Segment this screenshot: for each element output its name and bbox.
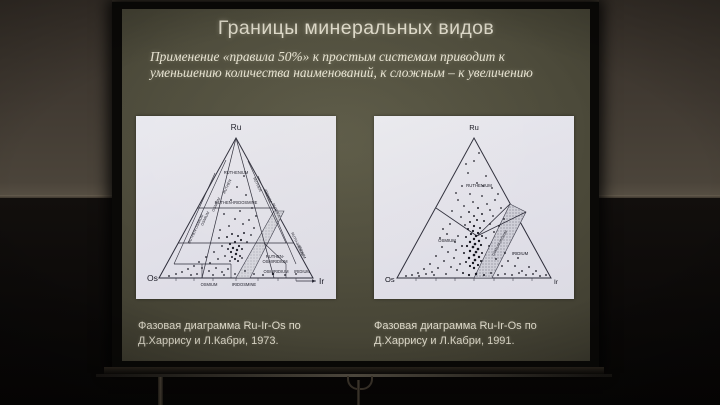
svg-text:OSMIUM: OSMIUM bbox=[438, 238, 456, 243]
screen-stand-leg-right bbox=[357, 380, 360, 405]
svg-text:Os: Os bbox=[147, 273, 158, 283]
svg-text:Ir: Ir bbox=[319, 276, 324, 286]
svg-text:RUTHEN: RUTHEN bbox=[222, 179, 232, 195]
figure-row: RUTHENIUM RUTHEN-IRIDOSMINE OSMIUM IRIDO… bbox=[136, 116, 576, 306]
ternary-diagram-1973: RUTHENIUM RUTHEN-IRIDOSMINE OSMIUM IRIDO… bbox=[136, 116, 336, 299]
svg-text:OSMIRIDIUM: OSMIRIDIUM bbox=[262, 259, 288, 264]
svg-text:IRIDIUM: IRIDIUM bbox=[294, 269, 310, 274]
screen-stand-leg-left bbox=[158, 377, 163, 405]
presentation-slide: Границы минеральных видов Применение «пр… bbox=[122, 9, 590, 361]
svg-text:RUTHEN-IRIDOSMINE: RUTHEN-IRIDOSMINE bbox=[215, 200, 258, 205]
svg-text:IRIDIUM: IRIDIUM bbox=[512, 251, 529, 256]
ternary-diagram-1991: RUTHENIUM OSMIUM IRIDIUM OSMIUM-IRIDIUM … bbox=[374, 116, 574, 299]
svg-text:Ru: Ru bbox=[469, 123, 479, 132]
svg-text:RUTHEN: RUTHEN bbox=[252, 177, 262, 193]
figure-caption-left: Фазовая диаграмма Ru-Ir-Os по Д.Харрису … bbox=[138, 319, 353, 348]
photo-scene: Границы минеральных видов Применение «пр… bbox=[0, 0, 720, 405]
screen-bottom-bar bbox=[104, 367, 604, 374]
figure-caption-right: Фазовая диаграмма Ru-Ir-Os по Д.Харрису … bbox=[374, 319, 589, 348]
svg-text:IRIDOSMINE: IRIDOSMINE bbox=[232, 282, 257, 287]
svg-text:OSMIUM: OSMIUM bbox=[201, 282, 218, 287]
svg-text:RUTHENIUM: RUTHENIUM bbox=[466, 183, 492, 188]
svg-text:Os: Os bbox=[385, 275, 395, 284]
svg-text:RUTHENIUM: RUTHENIUM bbox=[224, 170, 249, 175]
svg-text:OSMIRIDIUM: OSMIRIDIUM bbox=[263, 269, 289, 274]
svg-text:Ir: Ir bbox=[554, 279, 559, 286]
svg-text:Ru: Ru bbox=[231, 122, 242, 132]
slide-subtitle: Применение «правила 50%» к простым систе… bbox=[150, 49, 565, 81]
slide-title: Границы минеральных видов bbox=[122, 17, 590, 40]
